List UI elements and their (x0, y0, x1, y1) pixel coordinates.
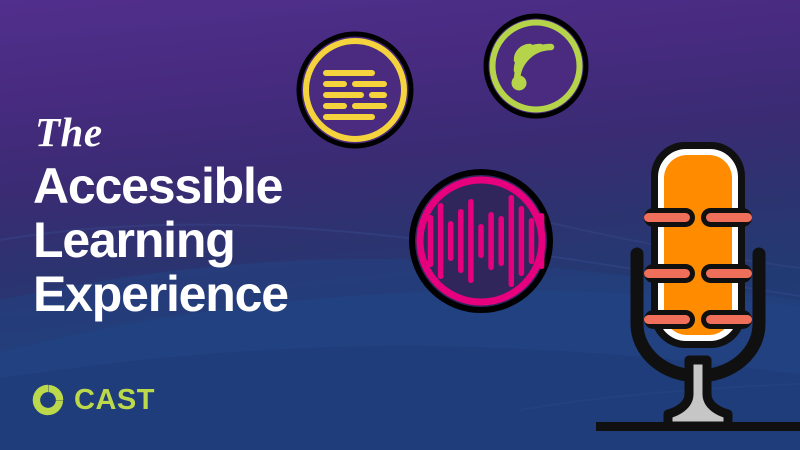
audio-waveform-icon (408, 168, 554, 314)
waveform-bar (509, 195, 515, 287)
cast-circle-mark-icon (31, 383, 65, 417)
waveform-bar (428, 215, 434, 267)
waveform-bar (529, 218, 535, 264)
title-headline: Accessible Learning Experience (33, 159, 373, 321)
waveform-bar (539, 213, 545, 269)
title-line-1: Accessible (33, 159, 373, 213)
waveform-bar (498, 216, 504, 266)
waveform-bar (438, 203, 444, 279)
rss-signal-icon (483, 13, 589, 119)
waveform-bar (458, 209, 464, 273)
title-line-3: Experience (33, 267, 373, 321)
waveform-bar (468, 199, 474, 283)
waveform-bar (519, 206, 525, 276)
captions-icon (296, 31, 414, 149)
waveform-bar (478, 224, 484, 258)
microphone-illustration (596, 128, 800, 450)
waveform-bar (418, 226, 424, 256)
title-line-2: Learning (33, 213, 373, 267)
podcast-banner: The Accessible Learning Experience CAST (0, 0, 800, 450)
waveform-bar (448, 221, 454, 261)
waveform-bar (488, 212, 494, 270)
cast-logo[interactable]: CAST (31, 383, 155, 417)
cast-wordmark: CAST (74, 386, 155, 415)
